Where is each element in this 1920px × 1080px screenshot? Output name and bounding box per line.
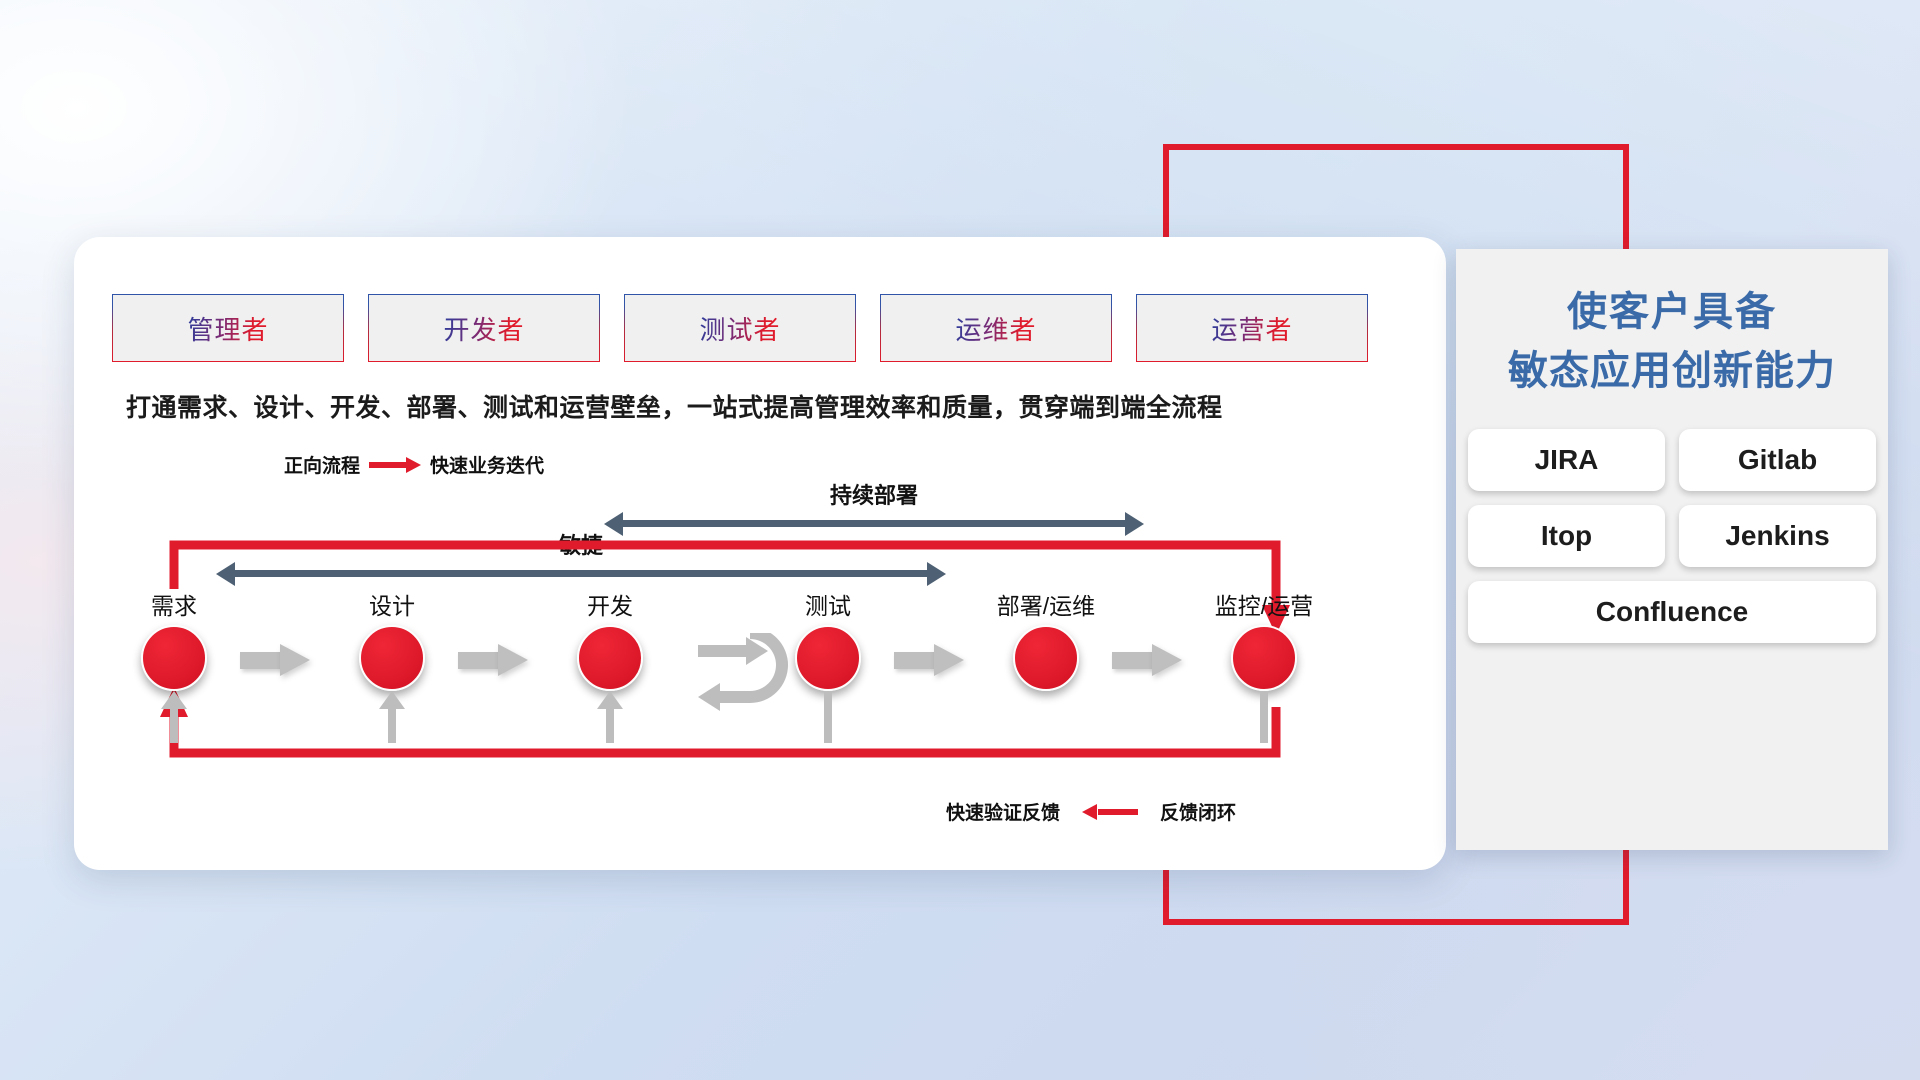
card-subtitle: 打通需求、设计、开发、部署、测试和运营壁垒，一站式提高管理效率和质量，贯穿端到端… [126, 388, 1416, 424]
stage-dot [795, 625, 861, 691]
forward-flow-legend: 正向流程 快速业务迭代 [284, 451, 544, 478]
arrow-right-gray-icon [894, 645, 964, 675]
role-label: 管理者 [187, 310, 268, 347]
stage-dot [1013, 625, 1079, 691]
stage-label: 测试 [752, 587, 904, 621]
arrow-head-right-icon [927, 562, 946, 586]
arrow-right-red-icon [369, 460, 421, 470]
arrow-right-gray-icon [1112, 645, 1182, 675]
tool-chip-jira[interactable]: JIRA [1468, 429, 1665, 491]
agile-span: 敏捷 [216, 562, 946, 585]
role-box-ops[interactable]: 运维者 [880, 294, 1112, 362]
role-label: 运营者 [1211, 310, 1292, 347]
stage-label: 开发 [534, 587, 686, 621]
arrow-right-gray-icon [458, 645, 528, 675]
connector-requirements [166, 691, 182, 743]
connector-monitor [1256, 691, 1272, 743]
role-box-row: 管理者 开发者 测试者 运维者 运营者 [112, 294, 1368, 362]
stage-dot [359, 625, 425, 691]
role-box-developer[interactable]: 开发者 [368, 294, 600, 362]
span-bar [232, 570, 930, 577]
stage-label: 设计 [316, 587, 468, 621]
arrow-left-red-icon [1082, 807, 1138, 817]
fast-validation-feedback-label: 快速验证反馈 [946, 798, 1060, 825]
stage-label: 监控/运营 [1188, 587, 1340, 621]
role-box-operations[interactable]: 运营者 [1136, 294, 1368, 362]
arrow-head-right-icon [1125, 512, 1144, 536]
role-label: 测试者 [699, 310, 780, 347]
arrow-uturn-gray-icon [694, 633, 790, 717]
panel-title: 使客户具备 敏态应用创新能力 [1456, 249, 1888, 401]
role-label: 开发者 [443, 310, 524, 347]
stage-label: 部署/运维 [970, 587, 1122, 621]
arrow-right-gray-icon [240, 645, 310, 675]
panel-title-line2: 敏态应用创新能力 [1466, 341, 1878, 401]
span-bar [620, 520, 1128, 527]
role-box-tester[interactable]: 测试者 [624, 294, 856, 362]
fast-business-iteration-label: 快速业务迭代 [430, 451, 544, 478]
role-box-manager[interactable]: 管理者 [112, 294, 344, 362]
agile-label: 敏捷 [216, 528, 946, 560]
tool-chip-confluence[interactable]: Confluence [1468, 581, 1876, 643]
devops-pipeline: 需求 设计 开发 测试 [118, 625, 1408, 735]
forward-flow-label: 正向流程 [284, 451, 360, 478]
connector-design [384, 691, 400, 743]
tool-chip-jenkins[interactable]: Jenkins [1679, 505, 1876, 567]
connector-testing [820, 691, 836, 743]
stage-dot [1231, 625, 1297, 691]
connector-development [602, 691, 618, 743]
tool-chip-gitlab[interactable]: Gitlab [1679, 429, 1876, 491]
continuous-deployment-label: 持续部署 [604, 478, 1144, 510]
feedback-legend: 快速验证反馈 反馈闭环 [946, 798, 1236, 825]
panel-title-line1: 使客户具备 [1466, 283, 1878, 341]
stage-dot [577, 625, 643, 691]
stage-dot [141, 625, 207, 691]
role-label: 运维者 [955, 310, 1036, 347]
stage-label: 需求 [98, 587, 250, 621]
tool-chip-list: JIRA Gitlab Itop Jenkins Confluence [1468, 429, 1876, 643]
devops-flow-card: 管理者 开发者 测试者 运维者 运营者 打通需求、设计、开发、部署、测试和运营壁… [74, 237, 1446, 870]
tool-chip-itop[interactable]: Itop [1468, 505, 1665, 567]
feedback-loop-label: 反馈闭环 [1160, 798, 1236, 825]
capability-panel: 使客户具备 敏态应用创新能力 JIRA Gitlab Itop Jenkins … [1456, 249, 1888, 850]
